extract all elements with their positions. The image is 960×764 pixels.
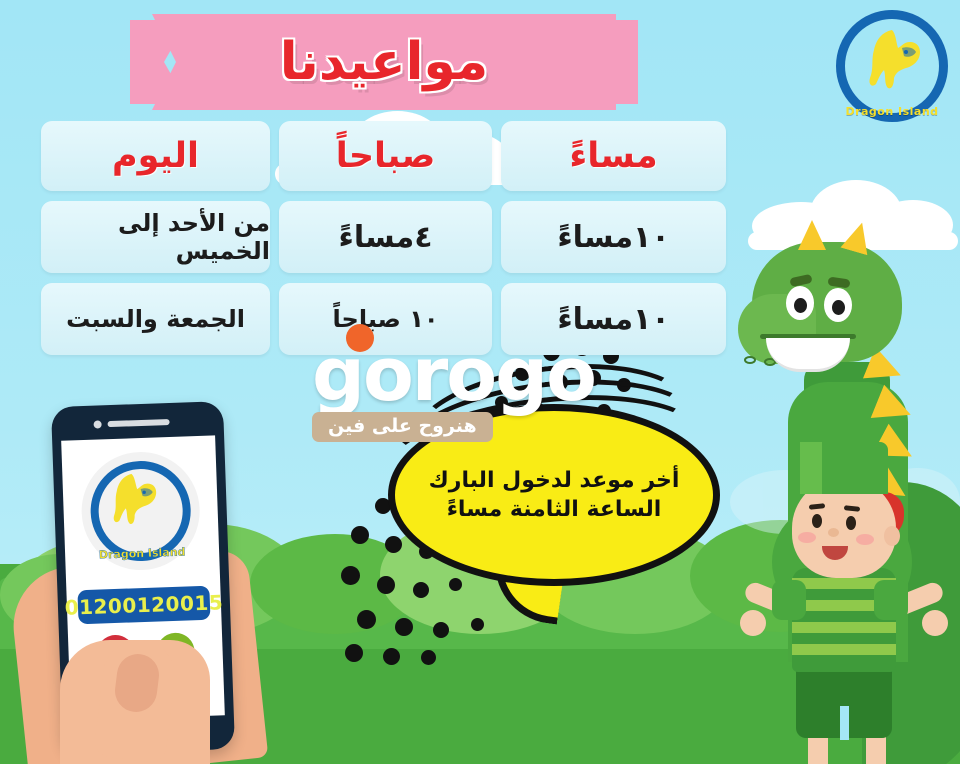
page-title: مواعيدنا — [152, 14, 616, 110]
boy-sleeve — [874, 580, 908, 620]
dragon-head-icon — [858, 26, 928, 98]
table-cell-day: من الأحد إلى الخميس — [41, 201, 270, 273]
boy-leg — [866, 736, 886, 764]
table-header-day: اليوم — [41, 121, 270, 191]
dragon-head-icon — [102, 467, 164, 535]
boy-sleeve — [772, 580, 806, 620]
dragon-eye — [824, 288, 852, 322]
phone-camera-icon — [93, 420, 101, 428]
dragon-island-logo: Dragon Island — [836, 10, 948, 122]
banner-ribbon: مواعيدنا — [152, 14, 616, 110]
watermark-dot-icon — [346, 324, 374, 352]
boy-hand — [922, 610, 948, 636]
boy-mascot — [760, 440, 960, 764]
poster-canvas: مواعيدنا Dragon Island اليوم صباحاً مساء… — [0, 0, 960, 764]
phone-logo: Dragon Island — [80, 450, 202, 572]
bubble-line-1: أخر موعد لدخول البارك — [429, 466, 680, 495]
boy-hand — [740, 610, 766, 636]
table-row: من الأحد إلى الخميس ٤مساءً ١٠مساءً — [41, 201, 735, 273]
dragon-eye — [786, 286, 814, 320]
table-cell-evening: ١٠مساءً — [501, 201, 726, 273]
boy-eye — [846, 516, 856, 530]
table-header-row: اليوم صباحاً مساءً — [41, 121, 735, 191]
phone-number: 01200120015 — [77, 586, 210, 625]
watermark-tagline: هنروح على فين — [312, 412, 493, 442]
watermark: gorogo هنروح على فين — [312, 338, 642, 438]
table-cell-morning: ٤مساءً — [279, 201, 492, 273]
logo-label: Dragon Island — [836, 105, 948, 118]
schedule-table: اليوم صباحاً مساءً من الأحد إلى الخميس ٤… — [41, 121, 735, 355]
phone-logo-label: Dragon Island — [83, 545, 201, 562]
phone-speaker-icon — [108, 419, 170, 427]
table-header-evening: مساءً — [501, 121, 726, 191]
table-header-morning: صباحاً — [279, 121, 492, 191]
table-cell-day: الجمعة والسبت — [41, 283, 270, 355]
boy-eye — [812, 514, 822, 528]
bubble-line-2: الساعة الثامنة مساءً — [447, 495, 662, 524]
boy-leg — [808, 736, 828, 764]
dragon-head — [752, 242, 902, 362]
